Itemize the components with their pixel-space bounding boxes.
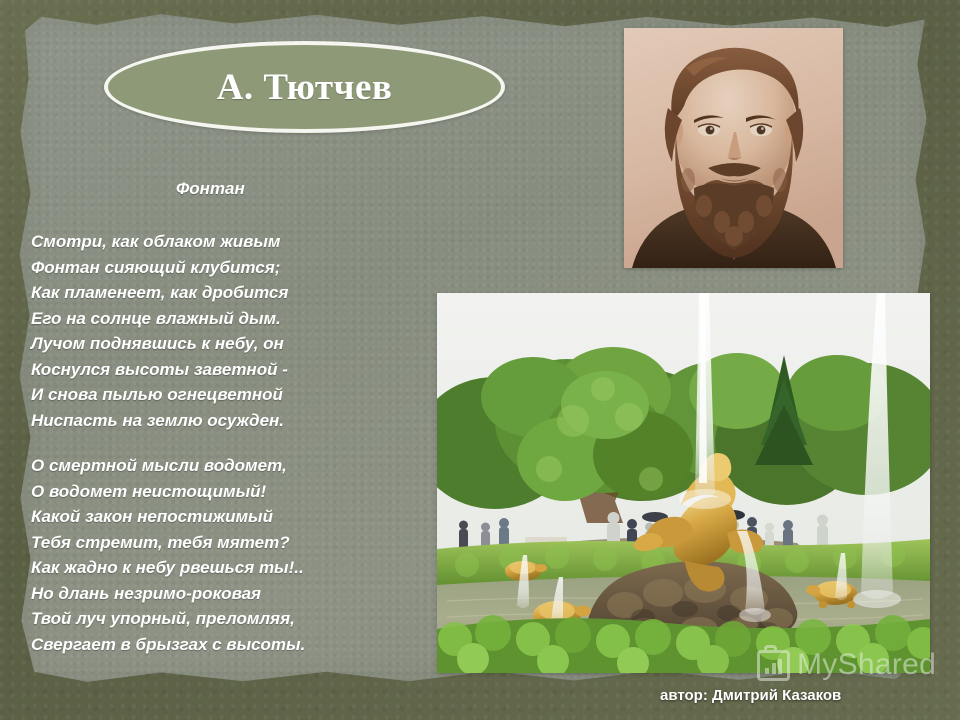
poem-title: Фонтан [176,179,245,199]
portrait-illustration [624,28,843,268]
poem-stanza: Смотри, как облаком живым Фонтан сияющий… [31,229,431,433]
fountain-photo [437,293,930,673]
presentation-slide: А. Тютчев Фонтан Смотри, как облаком жив… [0,0,960,720]
poem-line: Как пламенеет, как дробится [31,280,431,306]
poem-line: Но длань незримо-роковая [31,581,431,607]
poem-line: Лучом поднявшись к небу, он [31,331,431,357]
poem-line: Фонтан сияющий клубится; [31,255,431,281]
poem-line: Смотри, как облаком живым [31,229,431,255]
poem-line: Тебя стремит, тебя мятет? [31,530,431,556]
title-badge: А. Тютчев [104,41,505,133]
poem-line: Твой луч упорный, преломляя, [31,606,431,632]
poem-line: О смертной мысли водомет, [31,453,431,479]
poem-stanza: О смертной мысли водомет, О водомет неис… [31,453,431,657]
poem-line: О водомет неистощимый! [31,479,431,505]
poem-line: Ниспасть на землю осужден. [31,408,431,434]
poem-line: Как жадно к небу рвешься ты!.. [31,555,431,581]
fountain-illustration [437,293,930,673]
portrait-photo [624,28,843,268]
poem-line: Какой закон непостижимый [31,504,431,530]
poem-body: Смотри, как облаком живым Фонтан сияющий… [31,229,431,657]
page-title: А. Тютчев [217,66,393,109]
poem-line: Его на солнце влажный дым. [31,306,431,332]
poem-line: Коснулся высоты заветной - [31,357,431,383]
poem-line: Свергает в брызгах с высоты. [31,632,431,658]
poem-line: И снова пылью огнецветной [31,382,431,408]
author-caption: автор: Дмитрий Казаков [660,687,841,704]
